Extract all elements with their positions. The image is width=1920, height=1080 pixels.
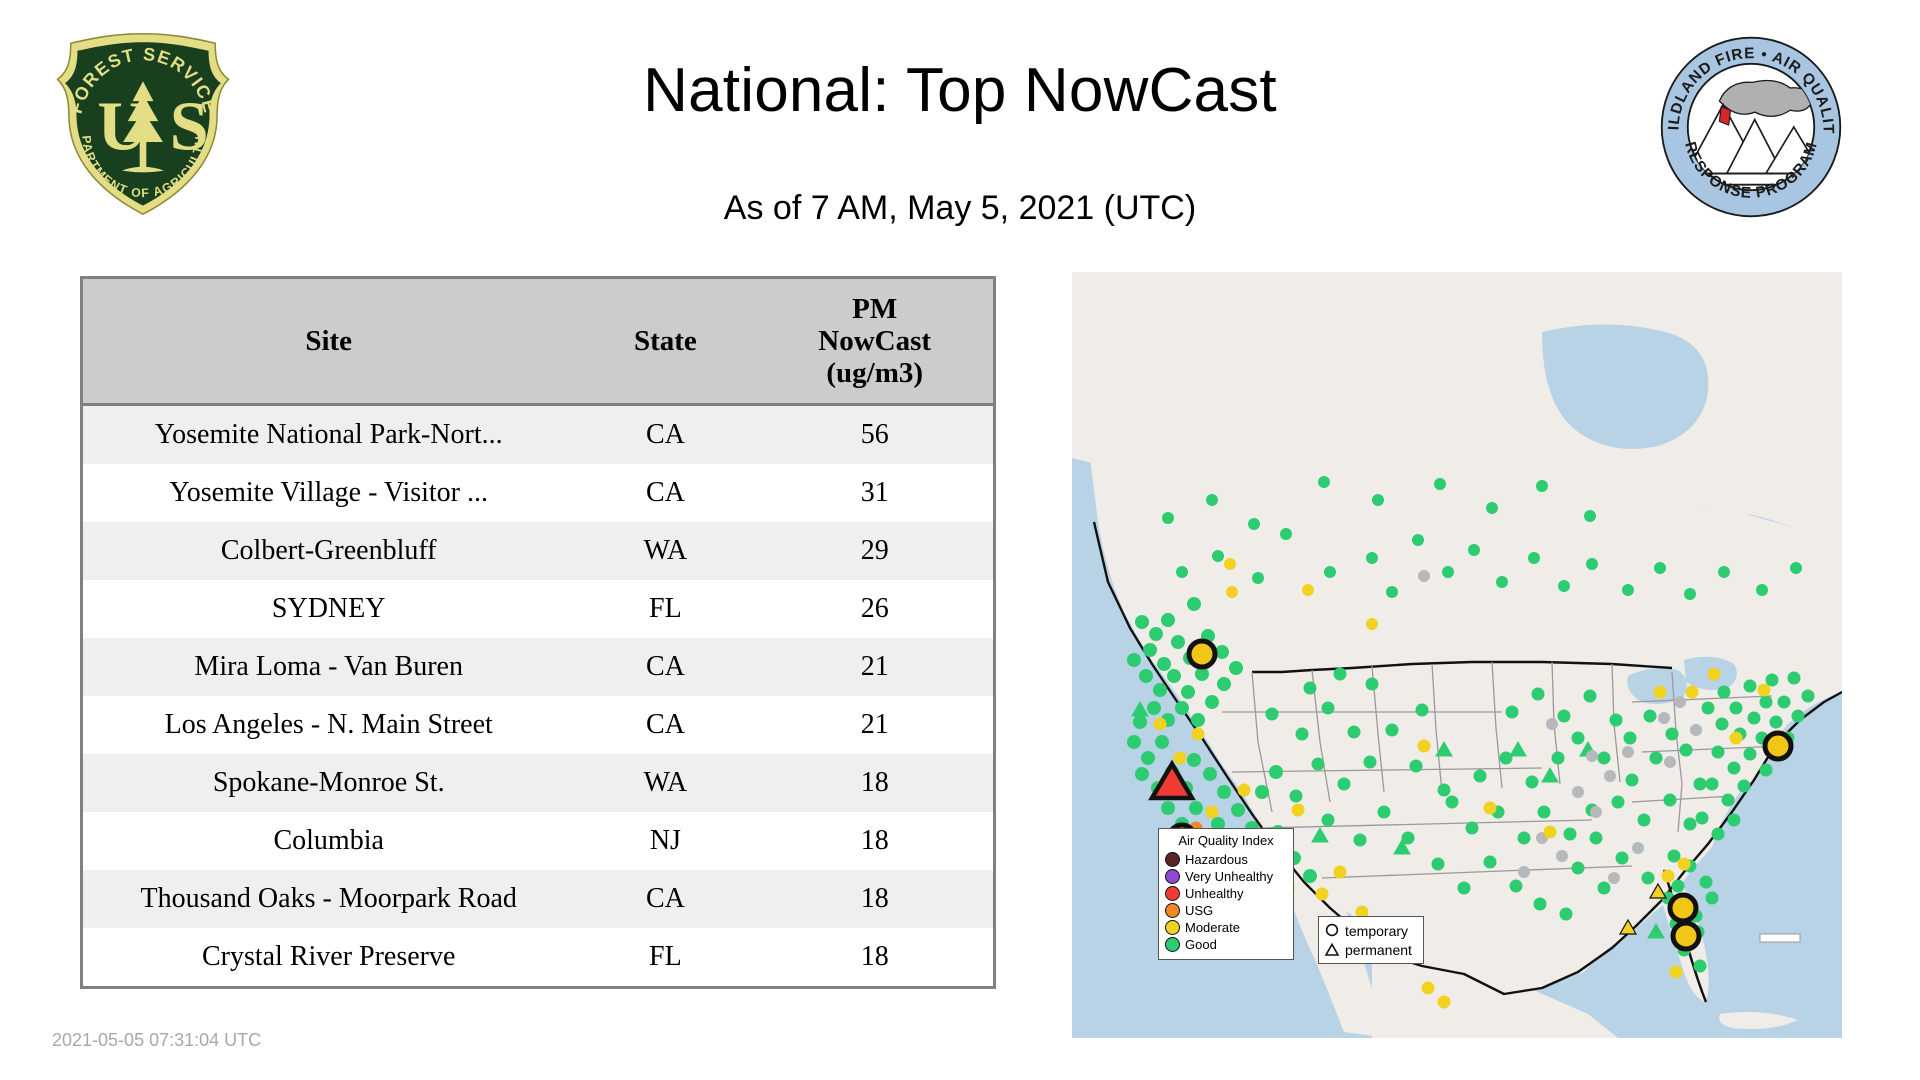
page-title: National: Top NowCast [300, 56, 1620, 126]
aqi-legend-item-hazardous: Hazardous [1165, 851, 1287, 868]
cell-site: Colbert-Greenbluff [83, 522, 574, 580]
column-header-state: State [574, 279, 756, 405]
cell-site: Spokane-Monroe St. [83, 754, 574, 812]
circle-icon [1324, 923, 1340, 939]
table-row[interactable]: Crystal River Preserve FL 18 [83, 928, 993, 986]
table-row[interactable]: Yosemite National Park-Nort... CA 56 [83, 405, 993, 465]
aqi-legend-label: Hazardous [1185, 852, 1248, 867]
table-row[interactable]: SYDNEY FL 26 [83, 580, 993, 638]
cell-site: Mira Loma - Van Buren [83, 638, 574, 696]
pm-header-line-3: (ug/m3) [760, 357, 989, 389]
cell-state: CA [574, 405, 756, 465]
cell-state: NJ [574, 812, 756, 870]
aqi-legend-label: Good [1185, 937, 1217, 952]
cell-value: 31 [756, 464, 993, 522]
column-header-site: Site [83, 279, 574, 405]
cell-site: Los Angeles - N. Main Street [83, 696, 574, 754]
cell-site: Crystal River Preserve [83, 928, 574, 986]
cell-state: CA [574, 870, 756, 928]
cell-state: CA [574, 696, 756, 754]
aqi-legend-item-very-unhealthy: Very Unhealthy [1165, 868, 1287, 885]
aqi-legend-label: Unhealthy [1185, 886, 1244, 901]
aqi-legend-label: USG [1185, 903, 1213, 918]
cell-state: WA [574, 754, 756, 812]
pm-header-line-2: NowCast [760, 325, 989, 357]
cell-value: 18 [756, 870, 993, 928]
site-type-legend-item-temporary: temporary [1324, 921, 1418, 940]
aqi-legend-title: Air Quality Index [1165, 834, 1287, 848]
cell-value: 18 [756, 928, 993, 986]
aqi-color-swatch-moderate [1165, 920, 1180, 935]
cell-state: FL [574, 580, 756, 638]
table-row[interactable]: Mira Loma - Van Buren CA 21 [83, 638, 993, 696]
slide-canvas: FOREST SERVICE DEPARTMENT OF AGRICULTURE… [0, 0, 1920, 1080]
cell-state: FL [574, 928, 756, 986]
svg-text:S: S [170, 88, 209, 166]
table-row[interactable]: Columbia NJ 18 [83, 812, 993, 870]
cell-site: Yosemite National Park-Nort... [83, 405, 574, 465]
triangle-icon [1324, 942, 1340, 958]
pm-header-line-1: PM [760, 293, 989, 325]
aqi-color-swatch-usg [1165, 903, 1180, 918]
cell-site: Yosemite Village - Visitor ... [83, 464, 574, 522]
cell-value: 18 [756, 754, 993, 812]
table-row[interactable]: Los Angeles - N. Main Street CA 21 [83, 696, 993, 754]
aqi-legend-label: Moderate [1185, 920, 1240, 935]
cell-value: 18 [756, 812, 993, 870]
cell-site: Columbia [83, 812, 574, 870]
table-row[interactable]: Yosemite Village - Visitor ... CA 31 [83, 464, 993, 522]
table-row[interactable]: Colbert-Greenbluff WA 29 [83, 522, 993, 580]
table-body: Yosemite National Park-Nort... CA 56 Yos… [83, 405, 993, 987]
cell-value: 21 [756, 638, 993, 696]
site-type-legend-item-permanent: permanent [1324, 940, 1418, 959]
aqi-legend-item-usg: USG [1165, 902, 1287, 919]
aqi-color-swatch-good [1165, 937, 1180, 952]
aqi-color-swatch-hazardous [1165, 852, 1180, 867]
aqi-legend-item-good: Good [1165, 936, 1287, 953]
column-header-pm-nowcast: PM NowCast (ug/m3) [756, 279, 993, 405]
cell-site: Thousand Oaks - Moorpark Road [83, 870, 574, 928]
top-nowcast-table: Site State PM NowCast (ug/m3) Yosemite N… [80, 276, 996, 989]
usfs-shield-logo: FOREST SERVICE DEPARTMENT OF AGRICULTURE… [48, 28, 238, 218]
cell-value: 26 [756, 580, 993, 638]
table-row[interactable]: Thousand Oaks - Moorpark Road CA 18 [83, 870, 993, 928]
aqi-legend-item-unhealthy: Unhealthy [1165, 885, 1287, 902]
cell-value: 29 [756, 522, 993, 580]
site-type-legend-label: permanent [1345, 942, 1412, 958]
aqi-legend-item-moderate: Moderate [1165, 919, 1287, 936]
cell-value: 21 [756, 696, 993, 754]
cell-state: CA [574, 464, 756, 522]
aqi-legend: Air Quality Index Hazardous Very Unhealt… [1158, 828, 1294, 960]
aqi-color-swatch-very-unhealthy [1165, 869, 1180, 884]
wildland-fire-air-quality-response-program-logo: WILDLAND FIRE • AIR QUALITY RESPONSE PRO… [1658, 34, 1844, 220]
table-row[interactable]: Spokane-Monroe St. WA 18 [83, 754, 993, 812]
cell-state: CA [574, 638, 756, 696]
page-subtitle: As of 7 AM, May 5, 2021 (UTC) [300, 188, 1620, 228]
cell-state: WA [574, 522, 756, 580]
cell-site: SYDNEY [83, 580, 574, 638]
cell-value: 56 [756, 405, 993, 465]
aqi-legend-label: Very Unhealthy [1185, 869, 1273, 884]
aqi-color-swatch-unhealthy [1165, 886, 1180, 901]
site-type-legend: temporary permanent [1318, 916, 1424, 964]
generated-timestamp: 2021-05-05 07:31:04 UTC [52, 1030, 261, 1051]
site-type-legend-label: temporary [1345, 923, 1408, 939]
table-header-row: Site State PM NowCast (ug/m3) [83, 279, 993, 405]
